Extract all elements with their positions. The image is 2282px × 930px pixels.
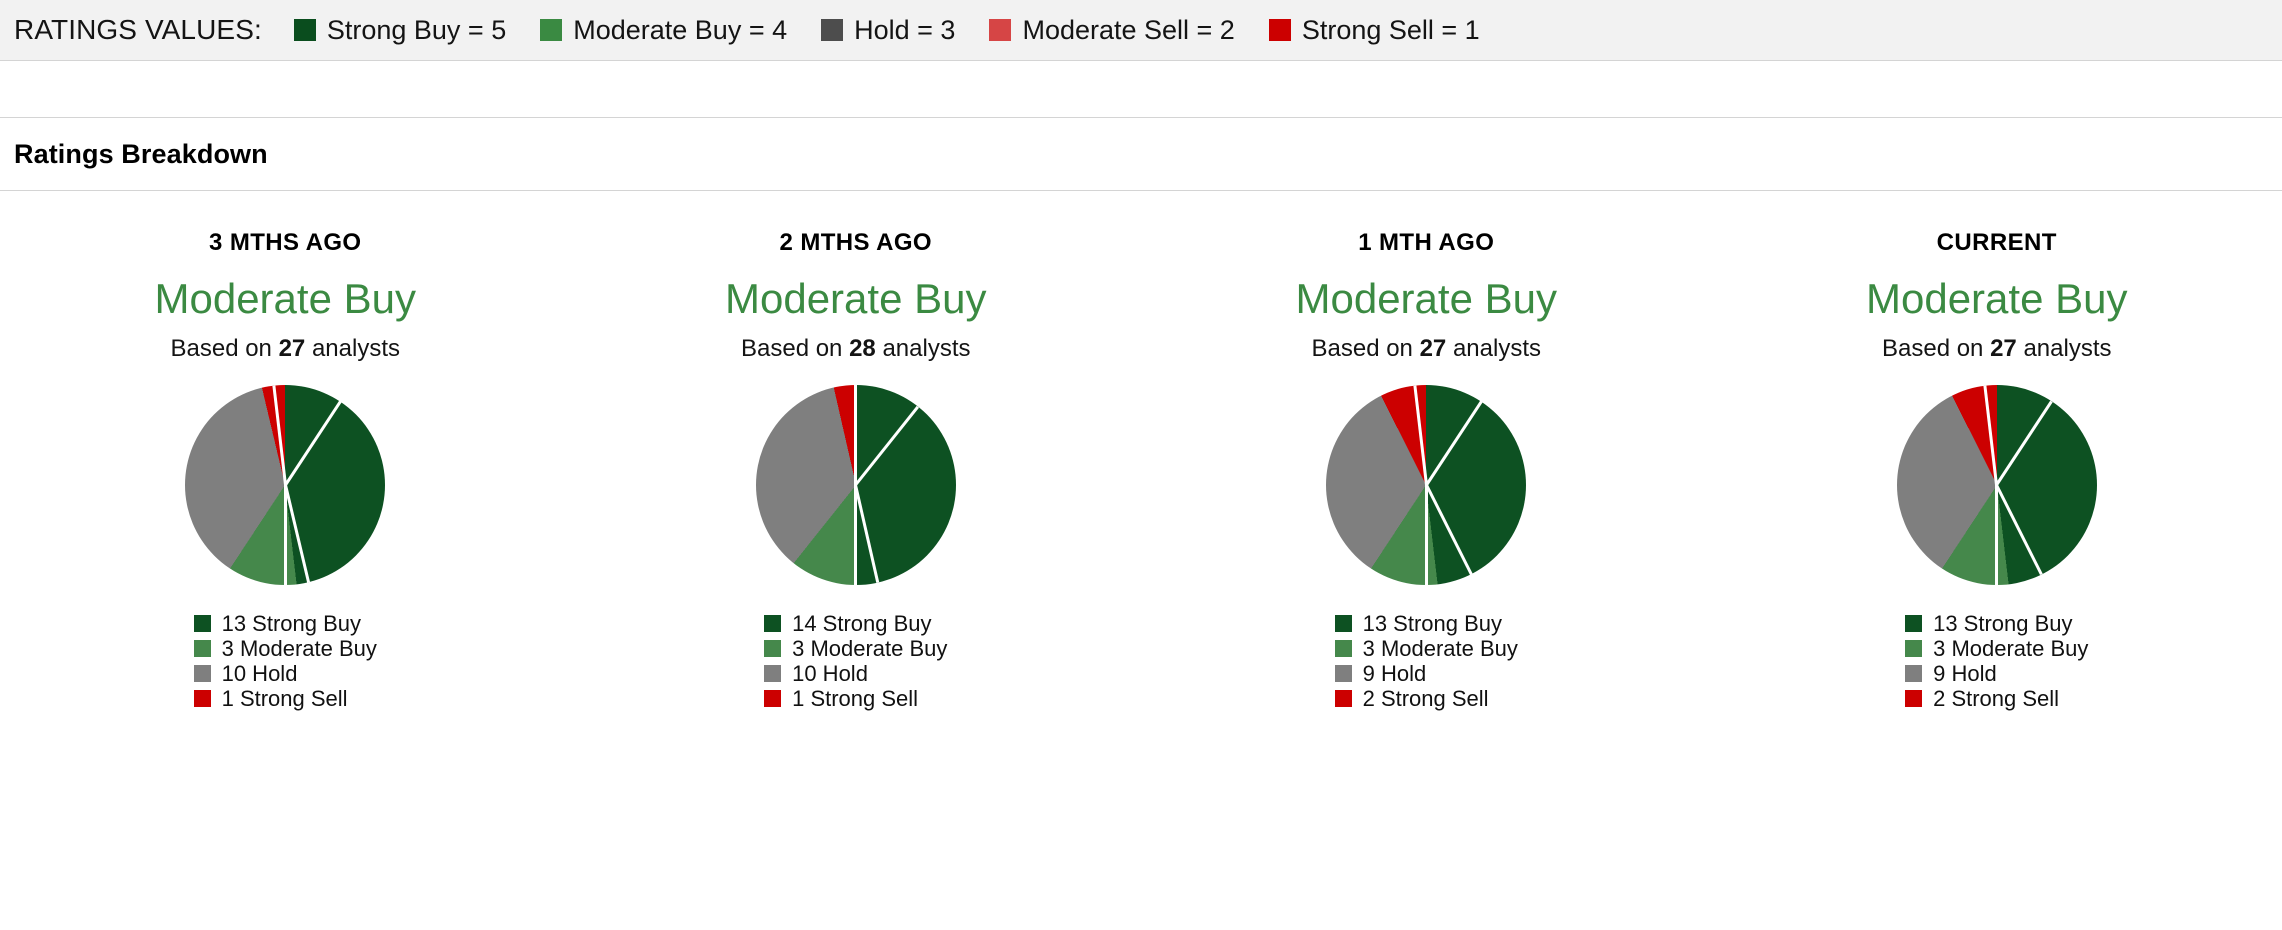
analyst-count-text: Based on 28 analysts xyxy=(741,335,971,363)
consensus-rating: Moderate Buy xyxy=(1296,277,1557,321)
pie-legend-label: 13 Strong Buy xyxy=(1363,611,1502,637)
pie-legend-item: 13 Strong Buy xyxy=(194,611,361,636)
pie-legend-label: 3 Moderate Buy xyxy=(1363,636,1518,662)
pie-legend-swatch-icon xyxy=(764,690,781,707)
ratings-value-label: Strong Buy = 5 xyxy=(327,15,506,46)
ratings-pie-chart xyxy=(756,385,956,585)
analyst-count-value: 27 xyxy=(1420,335,1447,362)
pie-legend-label: 13 Strong Buy xyxy=(222,611,361,637)
ratings-period-column: 1 MTH AGOModerate BuyBased on 27 analyst… xyxy=(1141,229,1712,711)
pie-legend-swatch-icon xyxy=(194,690,211,707)
pie-legend-item: 13 Strong Buy xyxy=(1335,611,1502,636)
pie-legend-label: 2 Strong Sell xyxy=(1363,686,1489,712)
pie-legend-label: 3 Moderate Buy xyxy=(222,636,377,662)
pie-legend-item: 3 Moderate Buy xyxy=(764,636,947,661)
pie-legend-swatch-icon xyxy=(194,665,211,682)
pie-legend-swatch-icon xyxy=(764,640,781,657)
pie-legend-label: 2 Strong Sell xyxy=(1933,686,2059,712)
pie-legend-label: 9 Hold xyxy=(1363,661,1427,687)
consensus-rating: Moderate Buy xyxy=(155,277,416,321)
pie-legend: 13 Strong Buy3 Moderate Buy9 Hold2 Stron… xyxy=(1905,611,2088,711)
page-title: Ratings Breakdown xyxy=(14,139,268,170)
pie-legend-item: 10 Hold xyxy=(764,661,868,686)
pie-legend-item: 9 Hold xyxy=(1335,661,1427,686)
pie-legend-swatch-icon xyxy=(194,640,211,657)
period-label: CURRENT xyxy=(1937,229,2057,257)
ratings-value-item: Moderate Sell = 2 xyxy=(989,15,1234,46)
consensus-rating: Moderate Buy xyxy=(725,277,986,321)
pie-legend-item: 3 Moderate Buy xyxy=(194,636,377,661)
ratings-value-item: Strong Buy = 5 xyxy=(294,15,506,46)
pie-legend-label: 10 Hold xyxy=(222,661,298,687)
ratings-values-legend: Strong Buy = 5Moderate Buy = 4Hold = 3Mo… xyxy=(294,15,1514,46)
pie-legend-swatch-icon xyxy=(194,615,211,632)
pie-legend-swatch-icon xyxy=(1335,690,1352,707)
pie-slice-divider xyxy=(1995,485,1998,585)
ratings-period-column: 2 MTHS AGOModerate BuyBased on 28 analys… xyxy=(571,229,1142,711)
pie-legend-item: 2 Strong Sell xyxy=(1905,686,2059,711)
analyst-count-text: Based on 27 analysts xyxy=(170,335,400,363)
pie-legend-item: 3 Moderate Buy xyxy=(1335,636,1518,661)
ratings-value-swatch-icon xyxy=(1269,19,1291,41)
period-label: 3 MTHS AGO xyxy=(209,229,361,257)
analyst-count-text: Based on 27 analysts xyxy=(1311,335,1541,363)
pie-legend-label: 9 Hold xyxy=(1933,661,1997,687)
pie-legend-swatch-icon xyxy=(1905,615,1922,632)
ratings-value-label: Hold = 3 xyxy=(854,15,955,46)
pie-legend-item: 10 Hold xyxy=(194,661,298,686)
pie-legend-swatch-icon xyxy=(1905,690,1922,707)
pie-legend-swatch-icon xyxy=(1335,665,1352,682)
ratings-value-swatch-icon xyxy=(821,19,843,41)
analyst-count-value: 28 xyxy=(849,335,876,362)
ratings-value-swatch-icon xyxy=(540,19,562,41)
pie-legend-swatch-icon xyxy=(1335,615,1352,632)
ratings-value-item: Hold = 3 xyxy=(821,15,955,46)
pie-slice-divider xyxy=(854,385,857,485)
ratings-period-column: CURRENTModerate BuyBased on 27 analysts1… xyxy=(1712,229,2282,711)
pie-slice-divider xyxy=(1425,485,1428,585)
pie-legend-swatch-icon xyxy=(1905,640,1922,657)
pie-legend-item: 9 Hold xyxy=(1905,661,1997,686)
pie-legend-item: 3 Moderate Buy xyxy=(1905,636,2088,661)
ratings-values-label: RATINGS VALUES: xyxy=(14,14,262,46)
ratings-period-column: 3 MTHS AGOModerate BuyBased on 27 analys… xyxy=(0,229,571,711)
analyst-count-text: Based on 27 analysts xyxy=(1882,335,2112,363)
ratings-value-swatch-icon xyxy=(294,19,316,41)
pie-legend-swatch-icon xyxy=(1335,640,1352,657)
pie-legend-item: 2 Strong Sell xyxy=(1335,686,1489,711)
period-label: 2 MTHS AGO xyxy=(780,229,932,257)
pie-legend-swatch-icon xyxy=(764,615,781,632)
ratings-value-swatch-icon xyxy=(989,19,1011,41)
pie-legend-swatch-icon xyxy=(1905,665,1922,682)
pie-legend: 13 Strong Buy3 Moderate Buy9 Hold2 Stron… xyxy=(1335,611,1518,711)
ratings-value-label: Moderate Sell = 2 xyxy=(1022,15,1234,46)
pie-legend: 13 Strong Buy3 Moderate Buy10 Hold1 Stro… xyxy=(194,611,377,711)
pie-legend-label: 3 Moderate Buy xyxy=(1933,636,2088,662)
pie-legend-label: 3 Moderate Buy xyxy=(792,636,947,662)
pie-legend-item: 14 Strong Buy xyxy=(764,611,931,636)
spacer-band xyxy=(0,61,2282,118)
pie-legend-label: 1 Strong Sell xyxy=(792,686,918,712)
pie-legend-item: 1 Strong Sell xyxy=(764,686,918,711)
ratings-value-label: Moderate Buy = 4 xyxy=(573,15,787,46)
ratings-pie-chart xyxy=(1897,385,2097,585)
analyst-count-value: 27 xyxy=(1990,335,2017,362)
analyst-count-value: 27 xyxy=(279,335,306,362)
ratings-value-item: Strong Sell = 1 xyxy=(1269,15,1480,46)
ratings-values-bar: RATINGS VALUES: Strong Buy = 5Moderate B… xyxy=(0,0,2282,61)
pie-legend-label: 10 Hold xyxy=(792,661,868,687)
ratings-pie-chart xyxy=(1326,385,1526,585)
ratings-value-label: Strong Sell = 1 xyxy=(1302,15,1480,46)
pie-legend-item: 13 Strong Buy xyxy=(1905,611,2072,636)
period-label: 1 MTH AGO xyxy=(1358,229,1494,257)
pie-legend-swatch-icon xyxy=(764,665,781,682)
ratings-pie-chart xyxy=(185,385,385,585)
ratings-breakdown-columns: 3 MTHS AGOModerate BuyBased on 27 analys… xyxy=(0,191,2282,711)
pie-legend-label: 1 Strong Sell xyxy=(222,686,348,712)
pie-slice-divider xyxy=(284,485,287,585)
ratings-breakdown-header: Ratings Breakdown xyxy=(0,118,2282,191)
ratings-value-item: Moderate Buy = 4 xyxy=(540,15,787,46)
pie-legend-label: 14 Strong Buy xyxy=(792,611,931,637)
pie-legend-label: 13 Strong Buy xyxy=(1933,611,2072,637)
pie-legend: 14 Strong Buy3 Moderate Buy10 Hold1 Stro… xyxy=(764,611,947,711)
consensus-rating: Moderate Buy xyxy=(1866,277,2127,321)
pie-legend-item: 1 Strong Sell xyxy=(194,686,348,711)
